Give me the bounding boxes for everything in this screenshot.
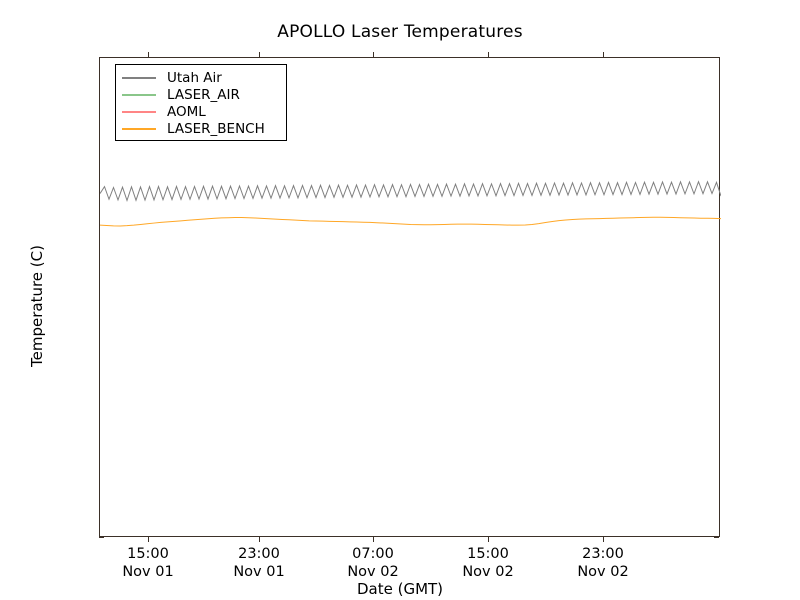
- legend-item[interactable]: LASER_AIR: [122, 86, 280, 103]
- x-tick-date: Nov 02: [428, 563, 548, 581]
- legend-label: AOML: [167, 104, 206, 120]
- x-tick-date: Nov 02: [313, 563, 433, 581]
- x-tick-time: 15:00: [467, 546, 509, 562]
- page-title: APOLLO Laser Temperatures: [0, 22, 800, 42]
- x-axis-label: Date (GMT): [0, 580, 800, 598]
- legend-color-swatch: [122, 77, 156, 79]
- x-tick-label: 07:00Nov 02: [313, 545, 433, 581]
- chart-legend: Utah AirLASER_AIRAOMLLASER_BENCH: [115, 64, 287, 141]
- legend-color-swatch: [122, 111, 156, 113]
- x-tick-label: 23:00Nov 01: [199, 545, 319, 581]
- x-tick-label: 15:00Nov 01: [88, 545, 208, 581]
- x-tick-time: 23:00: [238, 546, 280, 562]
- legend-label: Utah Air: [167, 70, 222, 86]
- y-axis-label: Temperature (C): [28, 186, 46, 426]
- legend-label: LASER_BENCH: [167, 121, 265, 137]
- legend-label: LASER_AIR: [167, 87, 240, 103]
- figure-canvas: APOLLO Laser Temperatures Temperature (C…: [0, 0, 800, 600]
- x-tick-date: Nov 01: [88, 563, 208, 581]
- legend-item[interactable]: LASER_BENCH: [122, 120, 280, 137]
- x-tick-date: Nov 02: [543, 563, 663, 581]
- x-tick-time: 07:00: [352, 546, 394, 562]
- x-tick-time: 23:00: [582, 546, 624, 562]
- x-tick-label: 15:00Nov 02: [428, 545, 548, 581]
- legend-color-swatch: [122, 128, 156, 130]
- legend-item[interactable]: AOML: [122, 103, 280, 120]
- series-line-laser-bench: [100, 217, 721, 226]
- x-tick-time: 15:00: [127, 546, 169, 562]
- x-tick-date: Nov 01: [199, 563, 319, 581]
- series-line-utah-air: [100, 182, 721, 201]
- x-tick-label: 23:00Nov 02: [543, 545, 663, 581]
- legend-item[interactable]: Utah Air: [122, 69, 280, 86]
- legend-color-swatch: [122, 94, 156, 96]
